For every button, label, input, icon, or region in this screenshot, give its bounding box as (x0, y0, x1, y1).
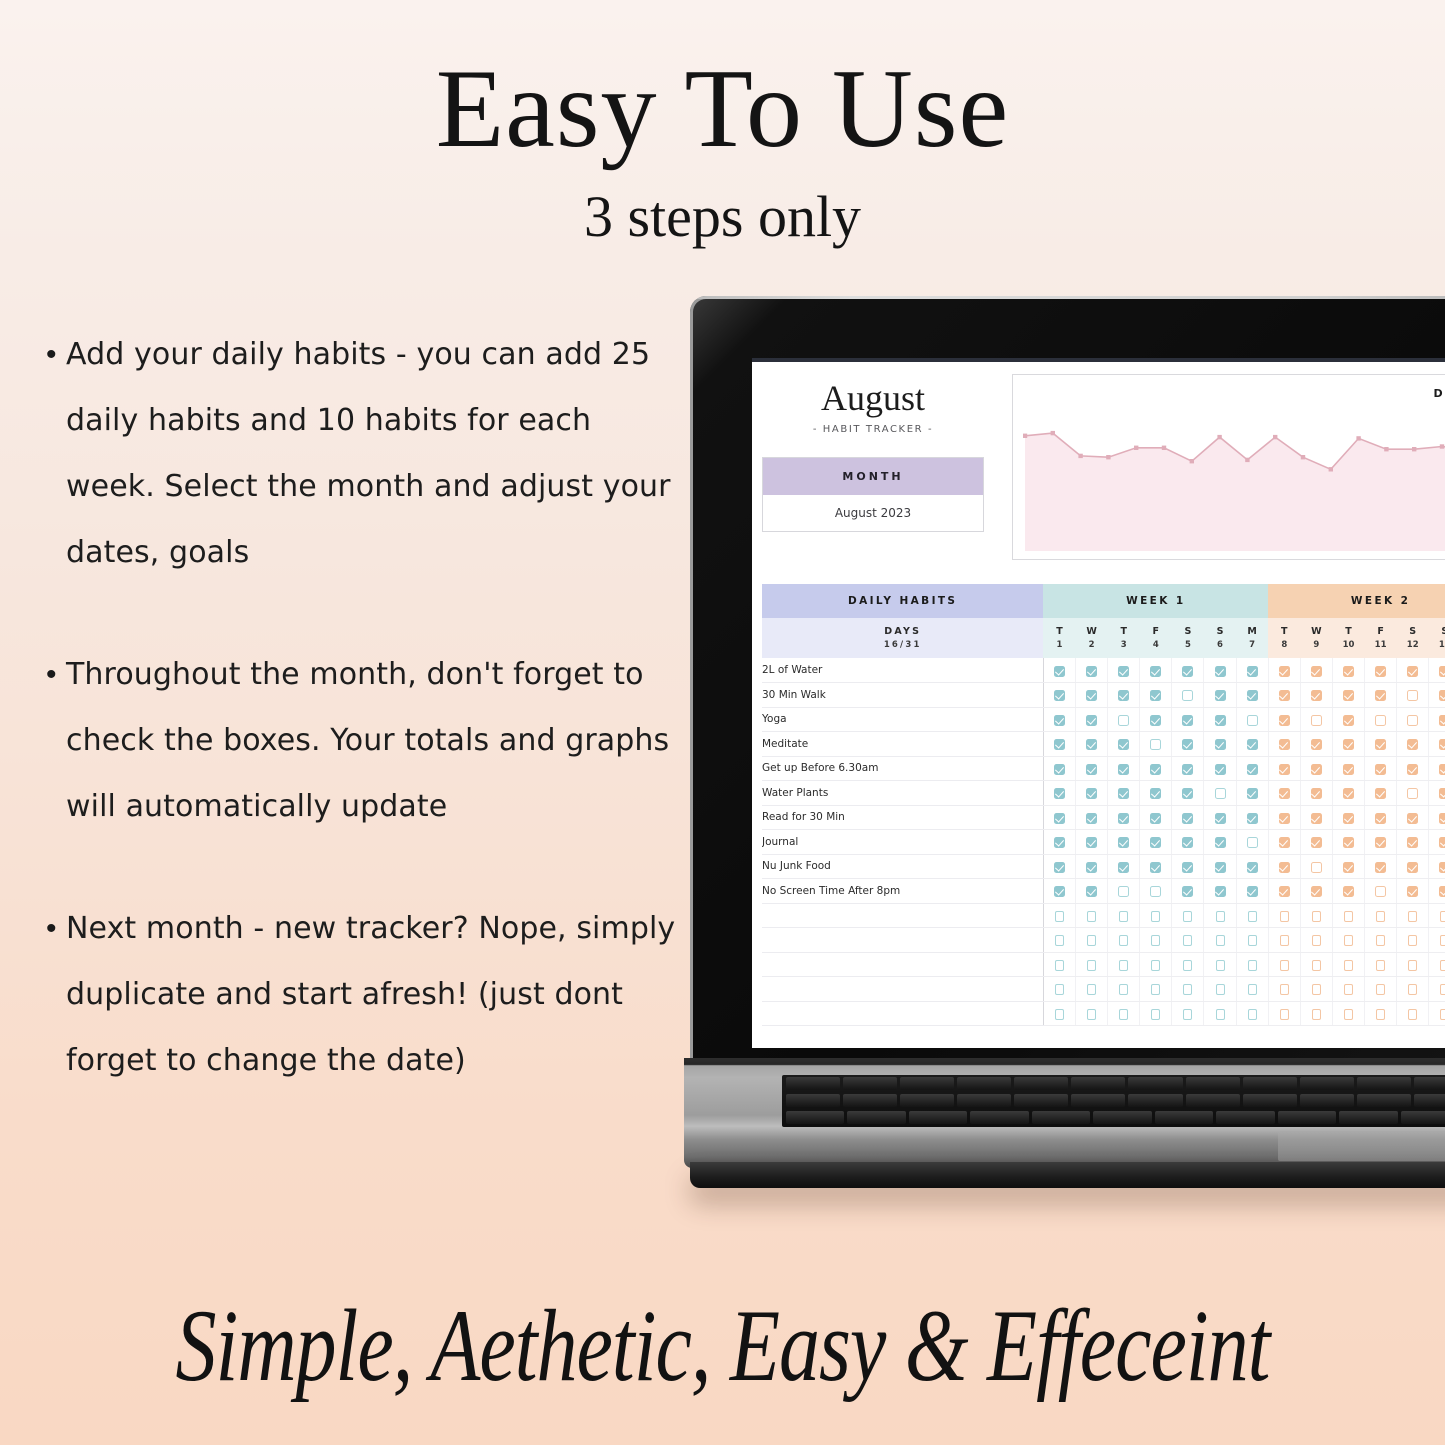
habit-checkbox-cell[interactable] (1268, 756, 1300, 781)
habit-checkbox-cell[interactable] (1108, 1001, 1140, 1026)
habit-name-cell-empty[interactable] (762, 928, 1043, 953)
habit-checkbox-cell[interactable] (1204, 756, 1236, 781)
checkbox-unchecked-icon[interactable] (1247, 837, 1258, 848)
habit-checkbox-cell[interactable] (1108, 928, 1140, 953)
habit-checkbox-cell[interactable] (1300, 830, 1332, 855)
checkbox-checked-icon[interactable] (1279, 886, 1290, 897)
habit-checkbox-cell[interactable] (1204, 658, 1236, 683)
habit-checkbox-cell[interactable] (1043, 879, 1075, 904)
habit-checkbox-cell[interactable] (1332, 756, 1364, 781)
habit-checkbox-cell[interactable] (1300, 952, 1332, 977)
habit-checkbox-cell[interactable] (1300, 977, 1332, 1002)
checkbox-checked-icon[interactable] (1343, 837, 1354, 848)
habit-checkbox-cell[interactable] (1043, 781, 1075, 806)
checkbox-unchecked-icon[interactable] (1216, 1009, 1225, 1020)
habit-checkbox-cell[interactable] (1300, 928, 1332, 953)
checkbox-unchecked-icon[interactable] (1408, 984, 1417, 995)
checkbox-checked-icon[interactable] (1311, 666, 1322, 677)
habit-checkbox-cell[interactable] (1332, 781, 1364, 806)
habit-checkbox-cell[interactable] (1076, 903, 1108, 928)
checkbox-unchecked-icon[interactable] (1280, 935, 1289, 946)
habit-checkbox-cell[interactable] (1236, 830, 1268, 855)
checkbox-unchecked-icon[interactable] (1375, 886, 1386, 897)
checkbox-checked-icon[interactable] (1247, 788, 1258, 799)
habit-checkbox-cell[interactable] (1397, 683, 1429, 708)
habit-checkbox-cell[interactable] (1172, 830, 1204, 855)
habit-checkbox-cell[interactable] (1108, 903, 1140, 928)
habit-checkbox-cell[interactable] (1076, 658, 1108, 683)
habit-checkbox-cell[interactable] (1429, 879, 1445, 904)
checkbox-checked-icon[interactable] (1054, 813, 1065, 824)
checkbox-unchecked-icon[interactable] (1376, 960, 1385, 971)
habit-checkbox-cell[interactable] (1268, 903, 1300, 928)
habit-checkbox-cell[interactable] (1236, 879, 1268, 904)
checkbox-unchecked-icon[interactable] (1151, 960, 1160, 971)
checkbox-unchecked-icon[interactable] (1280, 911, 1289, 922)
checkbox-unchecked-icon[interactable] (1376, 1009, 1385, 1020)
habit-checkbox-cell[interactable] (1365, 707, 1397, 732)
habit-name-cell[interactable]: Get up Before 6.30am (762, 756, 1043, 781)
checkbox-checked-icon[interactable] (1247, 813, 1258, 824)
checkbox-checked-icon[interactable] (1439, 886, 1445, 897)
checkbox-unchecked-icon[interactable] (1119, 984, 1128, 995)
habit-checkbox-cell[interactable] (1429, 928, 1445, 953)
habit-checkbox-cell[interactable] (1108, 756, 1140, 781)
checkbox-checked-icon[interactable] (1375, 764, 1386, 775)
checkbox-unchecked-icon[interactable] (1312, 911, 1321, 922)
habit-checkbox-cell[interactable] (1300, 732, 1332, 757)
habit-checkbox-cell[interactable] (1236, 683, 1268, 708)
checkbox-unchecked-icon[interactable] (1376, 984, 1385, 995)
checkbox-checked-icon[interactable] (1311, 690, 1322, 701)
habit-checkbox-cell[interactable] (1108, 732, 1140, 757)
checkbox-checked-icon[interactable] (1215, 715, 1226, 726)
checkbox-unchecked-icon[interactable] (1055, 984, 1064, 995)
checkbox-checked-icon[interactable] (1247, 764, 1258, 775)
checkbox-checked-icon[interactable] (1215, 886, 1226, 897)
checkbox-checked-icon[interactable] (1343, 739, 1354, 750)
checkbox-unchecked-icon[interactable] (1216, 935, 1225, 946)
habit-checkbox-cell[interactable] (1140, 854, 1172, 879)
habit-checkbox-cell[interactable] (1140, 830, 1172, 855)
habit-checkbox-cell[interactable] (1076, 781, 1108, 806)
checkbox-checked-icon[interactable] (1150, 764, 1161, 775)
habit-checkbox-cell[interactable] (1236, 977, 1268, 1002)
checkbox-checked-icon[interactable] (1150, 813, 1161, 824)
checkbox-checked-icon[interactable] (1086, 715, 1097, 726)
habit-checkbox-cell[interactable] (1429, 732, 1445, 757)
checkbox-checked-icon[interactable] (1407, 886, 1418, 897)
habit-checkbox-cell[interactable] (1140, 781, 1172, 806)
habit-checkbox-cell[interactable] (1140, 879, 1172, 904)
checkbox-checked-icon[interactable] (1407, 862, 1418, 873)
habit-checkbox-cell[interactable] (1268, 683, 1300, 708)
habit-checkbox-cell[interactable] (1429, 903, 1445, 928)
habit-checkbox-cell[interactable] (1365, 732, 1397, 757)
checkbox-checked-icon[interactable] (1343, 886, 1354, 897)
checkbox-unchecked-icon[interactable] (1216, 960, 1225, 971)
habit-checkbox-cell[interactable] (1365, 879, 1397, 904)
habit-checkbox-cell[interactable] (1172, 1001, 1204, 1026)
checkbox-checked-icon[interactable] (1086, 666, 1097, 677)
habit-checkbox-cell[interactable] (1236, 805, 1268, 830)
checkbox-checked-icon[interactable] (1311, 739, 1322, 750)
habit-name-cell-empty[interactable] (762, 977, 1043, 1002)
habit-checkbox-cell[interactable] (1108, 805, 1140, 830)
checkbox-unchecked-icon[interactable] (1408, 935, 1417, 946)
habit-checkbox-cell[interactable] (1172, 707, 1204, 732)
checkbox-checked-icon[interactable] (1279, 715, 1290, 726)
checkbox-checked-icon[interactable] (1407, 764, 1418, 775)
checkbox-unchecked-icon[interactable] (1216, 984, 1225, 995)
habit-checkbox-cell[interactable] (1236, 756, 1268, 781)
habit-checkbox-cell[interactable] (1172, 756, 1204, 781)
habit-checkbox-cell[interactable] (1397, 879, 1429, 904)
checkbox-unchecked-icon[interactable] (1247, 715, 1258, 726)
habit-name-cell[interactable]: Meditate (762, 732, 1043, 757)
habit-checkbox-cell[interactable] (1204, 707, 1236, 732)
checkbox-unchecked-icon[interactable] (1087, 1009, 1096, 1020)
checkbox-checked-icon[interactable] (1118, 666, 1129, 677)
habit-checkbox-cell[interactable] (1268, 805, 1300, 830)
checkbox-checked-icon[interactable] (1215, 666, 1226, 677)
checkbox-checked-icon[interactable] (1215, 813, 1226, 824)
checkbox-checked-icon[interactable] (1118, 862, 1129, 873)
habit-checkbox-cell[interactable] (1204, 977, 1236, 1002)
checkbox-checked-icon[interactable] (1118, 788, 1129, 799)
checkbox-checked-icon[interactable] (1054, 715, 1065, 726)
habit-checkbox-cell[interactable] (1332, 805, 1364, 830)
habit-name-cell[interactable]: 2L of Water (762, 658, 1043, 683)
habit-checkbox-cell[interactable] (1043, 658, 1075, 683)
habit-checkbox-cell[interactable] (1043, 683, 1075, 708)
habit-checkbox-cell[interactable] (1300, 707, 1332, 732)
checkbox-unchecked-icon[interactable] (1344, 960, 1353, 971)
habit-checkbox-cell[interactable] (1076, 683, 1108, 708)
checkbox-checked-icon[interactable] (1118, 739, 1129, 750)
checkbox-checked-icon[interactable] (1215, 837, 1226, 848)
habit-checkbox-cell[interactable] (1365, 805, 1397, 830)
checkbox-checked-icon[interactable] (1054, 862, 1065, 873)
habit-checkbox-cell[interactable] (1172, 658, 1204, 683)
checkbox-unchecked-icon[interactable] (1280, 960, 1289, 971)
habit-checkbox-cell[interactable] (1429, 805, 1445, 830)
habit-checkbox-cell[interactable] (1429, 977, 1445, 1002)
habit-checkbox-cell[interactable] (1429, 658, 1445, 683)
habit-checkbox-cell[interactable] (1429, 781, 1445, 806)
habit-checkbox-cell[interactable] (1140, 1001, 1172, 1026)
habit-checkbox-cell[interactable] (1108, 781, 1140, 806)
checkbox-checked-icon[interactable] (1407, 837, 1418, 848)
habit-checkbox-cell[interactable] (1172, 854, 1204, 879)
checkbox-unchecked-icon[interactable] (1344, 1009, 1353, 1020)
habit-checkbox-cell[interactable] (1043, 756, 1075, 781)
habit-checkbox-cell[interactable] (1429, 756, 1445, 781)
checkbox-unchecked-icon[interactable] (1344, 935, 1353, 946)
checkbox-checked-icon[interactable] (1182, 666, 1193, 677)
checkbox-unchecked-icon[interactable] (1376, 935, 1385, 946)
habit-checkbox-cell[interactable] (1268, 854, 1300, 879)
habit-checkbox-cell[interactable] (1140, 683, 1172, 708)
checkbox-unchecked-icon[interactable] (1087, 984, 1096, 995)
habit-checkbox-cell[interactable] (1076, 952, 1108, 977)
checkbox-checked-icon[interactable] (1279, 666, 1290, 677)
checkbox-checked-icon[interactable] (1439, 764, 1445, 775)
checkbox-checked-icon[interactable] (1439, 690, 1445, 701)
checkbox-unchecked-icon[interactable] (1440, 935, 1445, 946)
checkbox-unchecked-icon[interactable] (1183, 911, 1192, 922)
habit-checkbox-cell[interactable] (1268, 977, 1300, 1002)
habit-checkbox-cell[interactable] (1204, 781, 1236, 806)
checkbox-checked-icon[interactable] (1118, 764, 1129, 775)
habit-checkbox-cell[interactable] (1076, 756, 1108, 781)
checkbox-checked-icon[interactable] (1247, 739, 1258, 750)
checkbox-checked-icon[interactable] (1311, 886, 1322, 897)
habit-checkbox-cell[interactable] (1108, 879, 1140, 904)
checkbox-checked-icon[interactable] (1311, 813, 1322, 824)
checkbox-checked-icon[interactable] (1118, 690, 1129, 701)
habit-checkbox-cell[interactable] (1108, 683, 1140, 708)
checkbox-unchecked-icon[interactable] (1119, 960, 1128, 971)
habit-checkbox-cell[interactable] (1076, 707, 1108, 732)
checkbox-unchecked-icon[interactable] (1312, 984, 1321, 995)
habit-checkbox-cell[interactable] (1043, 707, 1075, 732)
habit-checkbox-cell[interactable] (1172, 928, 1204, 953)
checkbox-checked-icon[interactable] (1279, 862, 1290, 873)
checkbox-checked-icon[interactable] (1182, 862, 1193, 873)
checkbox-checked-icon[interactable] (1279, 837, 1290, 848)
habit-checkbox-cell[interactable] (1429, 854, 1445, 879)
habit-checkbox-cell[interactable] (1108, 707, 1140, 732)
habit-checkbox-cell[interactable] (1268, 707, 1300, 732)
habit-checkbox-cell[interactable] (1332, 830, 1364, 855)
checkbox-unchecked-icon[interactable] (1055, 1009, 1064, 1020)
checkbox-checked-icon[interactable] (1439, 813, 1445, 824)
checkbox-checked-icon[interactable] (1279, 764, 1290, 775)
checkbox-checked-icon[interactable] (1343, 666, 1354, 677)
checkbox-checked-icon[interactable] (1182, 886, 1193, 897)
habit-checkbox-cell[interactable] (1332, 952, 1364, 977)
habit-checkbox-cell[interactable] (1236, 903, 1268, 928)
checkbox-unchecked-icon[interactable] (1118, 715, 1129, 726)
habit-checkbox-cell[interactable] (1076, 879, 1108, 904)
habit-name-cell[interactable]: Water Plants (762, 781, 1043, 806)
checkbox-checked-icon[interactable] (1375, 788, 1386, 799)
habit-checkbox-cell[interactable] (1365, 1001, 1397, 1026)
habit-checkbox-cell[interactable] (1172, 805, 1204, 830)
habit-checkbox-cell[interactable] (1300, 854, 1332, 879)
habit-checkbox-cell[interactable] (1332, 903, 1364, 928)
habit-checkbox-cell[interactable] (1236, 781, 1268, 806)
checkbox-checked-icon[interactable] (1279, 813, 1290, 824)
checkbox-unchecked-icon[interactable] (1312, 960, 1321, 971)
checkbox-unchecked-icon[interactable] (1280, 1009, 1289, 1020)
checkbox-checked-icon[interactable] (1054, 666, 1065, 677)
habit-checkbox-cell[interactable] (1268, 732, 1300, 757)
habit-checkbox-cell[interactable] (1300, 756, 1332, 781)
habit-name-cell-empty[interactable] (762, 952, 1043, 977)
checkbox-unchecked-icon[interactable] (1055, 960, 1064, 971)
checkbox-checked-icon[interactable] (1054, 886, 1065, 897)
checkbox-checked-icon[interactable] (1279, 739, 1290, 750)
checkbox-checked-icon[interactable] (1150, 690, 1161, 701)
checkbox-unchecked-icon[interactable] (1055, 911, 1064, 922)
habit-checkbox-cell[interactable] (1140, 903, 1172, 928)
habit-checkbox-cell[interactable] (1043, 854, 1075, 879)
checkbox-checked-icon[interactable] (1279, 788, 1290, 799)
checkbox-unchecked-icon[interactable] (1375, 715, 1386, 726)
habit-checkbox-cell[interactable] (1172, 952, 1204, 977)
habit-checkbox-cell[interactable] (1236, 707, 1268, 732)
checkbox-unchecked-icon[interactable] (1183, 935, 1192, 946)
habit-checkbox-cell[interactable] (1140, 805, 1172, 830)
checkbox-unchecked-icon[interactable] (1440, 1009, 1445, 1020)
checkbox-checked-icon[interactable] (1215, 764, 1226, 775)
habit-checkbox-cell[interactable] (1300, 879, 1332, 904)
checkbox-unchecked-icon[interactable] (1407, 715, 1418, 726)
habit-checkbox-cell[interactable] (1365, 756, 1397, 781)
habit-checkbox-cell[interactable] (1332, 707, 1364, 732)
checkbox-checked-icon[interactable] (1343, 715, 1354, 726)
checkbox-unchecked-icon[interactable] (1312, 935, 1321, 946)
habit-checkbox-cell[interactable] (1268, 781, 1300, 806)
checkbox-checked-icon[interactable] (1150, 666, 1161, 677)
habit-checkbox-cell[interactable] (1268, 879, 1300, 904)
habit-checkbox-cell[interactable] (1268, 1001, 1300, 1026)
checkbox-checked-icon[interactable] (1343, 862, 1354, 873)
habit-checkbox-cell[interactable] (1204, 854, 1236, 879)
checkbox-unchecked-icon[interactable] (1087, 960, 1096, 971)
habit-checkbox-cell[interactable] (1076, 732, 1108, 757)
checkbox-checked-icon[interactable] (1086, 886, 1097, 897)
checkbox-checked-icon[interactable] (1439, 715, 1445, 726)
habit-checkbox-cell[interactable] (1332, 977, 1364, 1002)
habit-checkbox-cell[interactable] (1397, 732, 1429, 757)
checkbox-unchecked-icon[interactable] (1118, 886, 1129, 897)
checkbox-checked-icon[interactable] (1343, 764, 1354, 775)
checkbox-checked-icon[interactable] (1182, 788, 1193, 799)
habit-checkbox-cell[interactable] (1043, 805, 1075, 830)
habit-name-cell[interactable]: Nu Junk Food (762, 854, 1043, 879)
habit-checkbox-cell[interactable] (1172, 977, 1204, 1002)
checkbox-unchecked-icon[interactable] (1248, 960, 1257, 971)
checkbox-checked-icon[interactable] (1247, 690, 1258, 701)
habit-checkbox-cell[interactable] (1108, 952, 1140, 977)
checkbox-checked-icon[interactable] (1182, 764, 1193, 775)
checkbox-checked-icon[interactable] (1118, 837, 1129, 848)
checkbox-checked-icon[interactable] (1375, 739, 1386, 750)
checkbox-unchecked-icon[interactable] (1151, 911, 1160, 922)
habit-checkbox-cell[interactable] (1365, 977, 1397, 1002)
checkbox-unchecked-icon[interactable] (1151, 1009, 1160, 1020)
checkbox-unchecked-icon[interactable] (1087, 911, 1096, 922)
habit-checkbox-cell[interactable] (1429, 952, 1445, 977)
habit-checkbox-cell[interactable] (1076, 830, 1108, 855)
checkbox-checked-icon[interactable] (1343, 813, 1354, 824)
checkbox-unchecked-icon[interactable] (1312, 1009, 1321, 1020)
habit-checkbox-cell[interactable] (1397, 952, 1429, 977)
habit-checkbox-cell[interactable] (1204, 879, 1236, 904)
habit-checkbox-cell[interactable] (1332, 658, 1364, 683)
habit-checkbox-cell[interactable] (1300, 683, 1332, 708)
habit-checkbox-cell[interactable] (1204, 732, 1236, 757)
checkbox-checked-icon[interactable] (1247, 666, 1258, 677)
checkbox-checked-icon[interactable] (1375, 666, 1386, 677)
checkbox-checked-icon[interactable] (1054, 764, 1065, 775)
habit-name-cell[interactable]: Journal (762, 830, 1043, 855)
habit-checkbox-cell[interactable] (1236, 658, 1268, 683)
habit-checkbox-cell[interactable] (1397, 707, 1429, 732)
checkbox-checked-icon[interactable] (1439, 788, 1445, 799)
checkbox-unchecked-icon[interactable] (1408, 960, 1417, 971)
habit-checkbox-cell[interactable] (1429, 707, 1445, 732)
checkbox-unchecked-icon[interactable] (1183, 984, 1192, 995)
habit-name-cell[interactable]: No Screen Time After 8pm (762, 879, 1043, 904)
habit-checkbox-cell[interactable] (1397, 854, 1429, 879)
checkbox-unchecked-icon[interactable] (1280, 984, 1289, 995)
checkbox-checked-icon[interactable] (1439, 837, 1445, 848)
habit-checkbox-cell[interactable] (1429, 1001, 1445, 1026)
habit-checkbox-cell[interactable] (1204, 1001, 1236, 1026)
habit-checkbox-cell[interactable] (1365, 928, 1397, 953)
checkbox-unchecked-icon[interactable] (1183, 1009, 1192, 1020)
habit-checkbox-cell[interactable] (1204, 903, 1236, 928)
habit-name-cell[interactable]: Read for 30 Min (762, 805, 1043, 830)
habit-checkbox-cell[interactable] (1076, 854, 1108, 879)
checkbox-checked-icon[interactable] (1215, 862, 1226, 873)
habit-checkbox-cell[interactable] (1140, 952, 1172, 977)
habit-checkbox-cell[interactable] (1365, 658, 1397, 683)
checkbox-unchecked-icon[interactable] (1216, 911, 1225, 922)
checkbox-unchecked-icon[interactable] (1182, 690, 1193, 701)
habit-checkbox-cell[interactable] (1300, 658, 1332, 683)
habit-checkbox-cell[interactable] (1236, 952, 1268, 977)
checkbox-checked-icon[interactable] (1375, 862, 1386, 873)
habit-checkbox-cell[interactable] (1236, 928, 1268, 953)
checkbox-unchecked-icon[interactable] (1344, 911, 1353, 922)
checkbox-checked-icon[interactable] (1375, 690, 1386, 701)
habit-name-cell-empty[interactable] (762, 1001, 1043, 1026)
habit-checkbox-cell[interactable] (1365, 683, 1397, 708)
habit-checkbox-cell[interactable] (1204, 683, 1236, 708)
checkbox-checked-icon[interactable] (1054, 690, 1065, 701)
habit-checkbox-cell[interactable] (1332, 879, 1364, 904)
checkbox-checked-icon[interactable] (1150, 862, 1161, 873)
habit-checkbox-cell[interactable] (1108, 658, 1140, 683)
habit-checkbox-cell[interactable] (1076, 977, 1108, 1002)
habit-checkbox-cell[interactable] (1429, 830, 1445, 855)
checkbox-checked-icon[interactable] (1439, 739, 1445, 750)
checkbox-checked-icon[interactable] (1182, 813, 1193, 824)
checkbox-unchecked-icon[interactable] (1248, 911, 1257, 922)
habit-checkbox-cell[interactable] (1332, 1001, 1364, 1026)
habit-checkbox-cell[interactable] (1236, 1001, 1268, 1026)
habit-checkbox-cell[interactable] (1140, 977, 1172, 1002)
habit-checkbox-cell[interactable] (1332, 854, 1364, 879)
habit-checkbox-cell[interactable] (1236, 854, 1268, 879)
habit-checkbox-cell[interactable] (1043, 1001, 1075, 1026)
checkbox-unchecked-icon[interactable] (1440, 911, 1445, 922)
checkbox-checked-icon[interactable] (1343, 690, 1354, 701)
checkbox-unchecked-icon[interactable] (1440, 984, 1445, 995)
habit-checkbox-cell[interactable] (1076, 928, 1108, 953)
checkbox-unchecked-icon[interactable] (1248, 1009, 1257, 1020)
checkbox-unchecked-icon[interactable] (1311, 715, 1322, 726)
habit-checkbox-cell[interactable] (1429, 683, 1445, 708)
checkbox-unchecked-icon[interactable] (1344, 984, 1353, 995)
checkbox-unchecked-icon[interactable] (1215, 788, 1226, 799)
checkbox-checked-icon[interactable] (1407, 666, 1418, 677)
